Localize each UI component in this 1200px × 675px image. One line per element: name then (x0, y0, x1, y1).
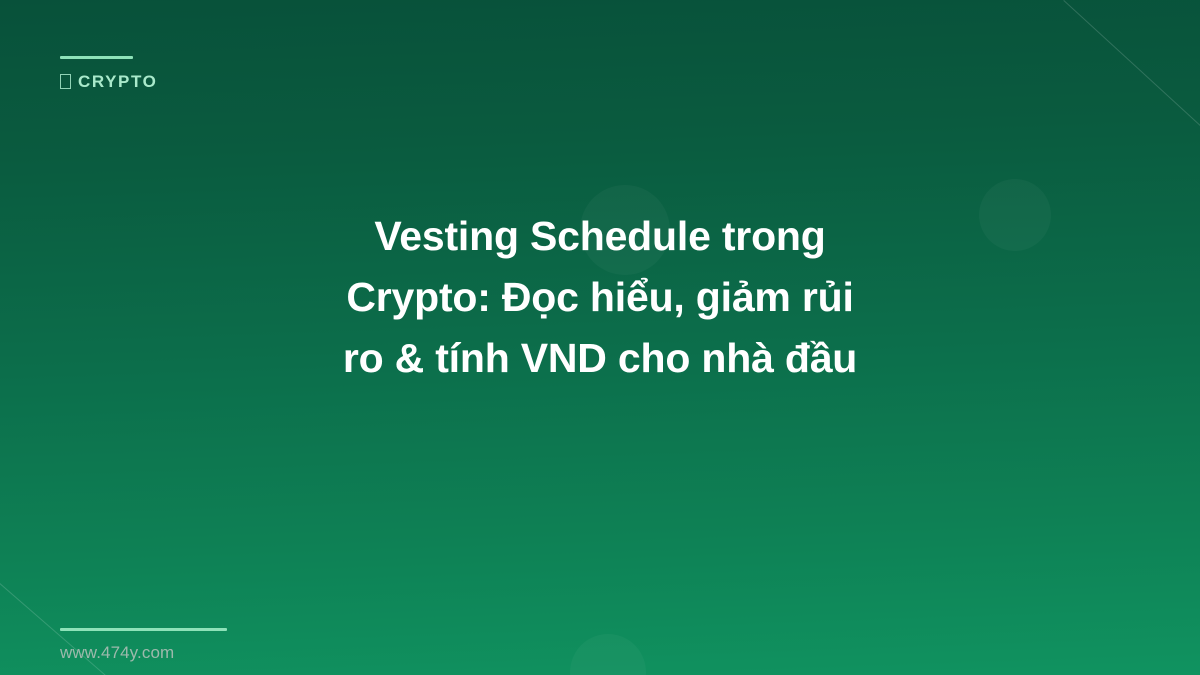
decorative-circle-bottom (570, 634, 646, 675)
footer-accent-rule (60, 628, 227, 631)
brand-accent-rule (60, 56, 133, 59)
page-title-line-1: Vesting Schedule trong (374, 206, 825, 267)
decorative-diagonal-line-top-right (1063, 0, 1200, 126)
social-card-slide: CRYPTO Vesting Schedule trong Crypto: Đọ… (0, 0, 1200, 675)
footer-website-url: www.474y.com (60, 644, 227, 661)
page-title-line-3: ro & tính VND cho nhà đầu (343, 328, 857, 389)
footer: www.474y.com (60, 628, 227, 661)
missing-glyph-box-icon (60, 74, 71, 89)
page-title-line-2: Crypto: Đọc hiểu, giảm rủi (346, 267, 853, 328)
brand-lockup: CRYPTO (60, 56, 158, 90)
brand-name-label: CRYPTO (78, 72, 158, 91)
page-title: Vesting Schedule trong Crypto: Đọc hiểu,… (0, 206, 1200, 389)
brand-name: CRYPTO (60, 73, 158, 90)
